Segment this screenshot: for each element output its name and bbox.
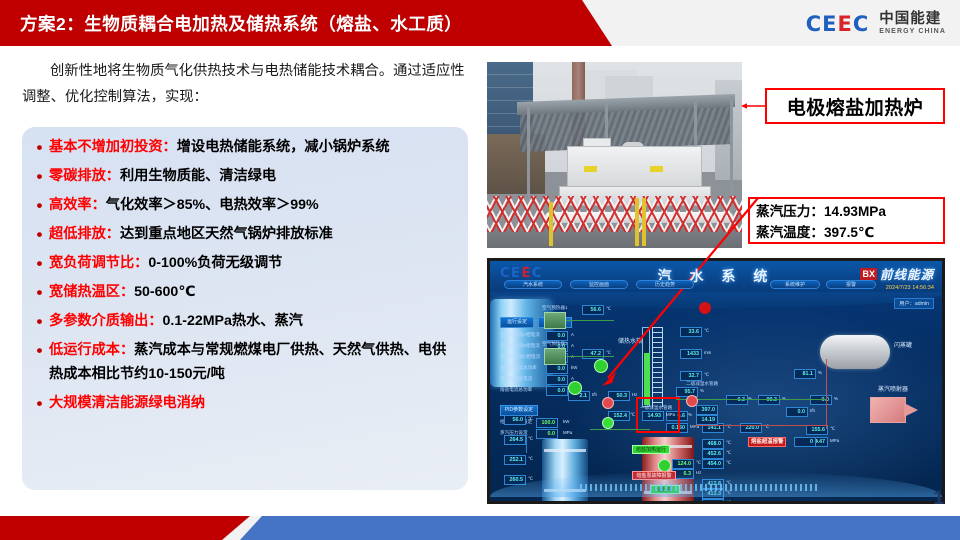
hmi-reading-35-unit: ℃ [726,500,731,504]
hmi-left-label-1: 生物炉电流A相电流 [500,332,540,338]
photo-post-2 [605,102,608,142]
hmi-pid-unit-1: kW [563,419,569,425]
hmi-device-label-1: 空气预热器1 [542,305,568,311]
hmi-reading-24: 56.0 [504,415,526,425]
hmi-pid-value-2: 0.0 [536,429,558,439]
hmi-reading-26-unit: ℃ [528,456,533,462]
hmi-reading-18-unit: ℃ [830,426,835,432]
benefit-keyword: 零碳排放： [49,168,120,184]
hmi-left-label-6: 熔盐电流总功率 [500,387,532,393]
hmi-left-value-4: 0.0 [546,364,568,374]
photo-label-tag-2 [650,166,663,172]
brand-logo: C E E C 中国能建 ENERGY CHINA [806,8,946,40]
callout-furnace: 电极熔盐加热炉 [765,88,945,124]
benefit-item: •超低排放：达到重点地区天然气锅炉排放标准 [30,223,460,247]
hmi-device-label-9: 蒸汽喷射器 [878,387,908,393]
hmi-reading-22: 397.0 [696,405,718,415]
hmi-steam-injector-nozzle [904,403,918,417]
hmi-mimic-diagram: 运行设定 MPT信号 生物炉电流A相电流 0.0 A 生物炉电流B相电流 0.0… [490,299,942,501]
hmi-device-label-4: 闪蒸罐 [894,343,912,349]
benefit-text: 大规模清洁能源绿电消纳 [49,392,460,416]
hmi-left-unit-4: kW [571,365,577,371]
hmi-screenshot: C E E C 汽 水 系 统 汽水系统 监控画面 历史趋势 系统维护 报警 B… [487,258,945,504]
hmi-pipe-7 [526,431,527,453]
hmi-reading-35: 412.3 [702,499,724,504]
benefit-item: •零碳排放：利用生物质能、清洁绿电 [30,165,460,189]
benefit-item: •宽负荷调节比：0-100%负荷无级调节 [30,252,460,276]
hmi-left-label-2: 生物炉电流B相电流 [500,343,540,349]
hmi-pipe-4 [590,429,650,430]
site-photo [487,62,742,248]
benefit-item: •大规模清洁能源绿电消纳 [30,392,460,416]
hmi-reading-23: 14.19 [696,415,718,425]
brand-name-en: ENERGY CHINA [879,27,946,37]
hmi-left-label-4: 生物炉电流总功率 [500,365,537,371]
hmi-reading-31: 124.0 [672,459,694,469]
steam-temperature-label: 蒸汽温度： [756,225,824,240]
hmi-vendor-brand: BX 前线能源 2024/7/23 14:56:34 用户：admin [860,264,934,310]
hmi-reading-2: 47.2 [582,349,604,359]
hmi-pipe-5 [826,359,827,429]
hmi-reading-4-unit: mm [704,350,711,356]
ceec-letter-1: C [806,14,820,34]
hmi-pipe-3 [676,399,826,400]
hmi-reading-29: 452.6 [702,449,724,459]
steam-temperature-row: 蒸汽温度：397.5℃ [756,223,943,244]
hmi-air-preheater-1 [544,312,566,329]
steam-pressure-label: 蒸汽压力： [756,204,824,219]
hmi-reading-20-unit: ℃ [630,412,635,418]
hmi-reading-25: 264.5 [504,435,526,445]
benefit-detail: 达到重点地区天然气锅炉排放标准 [120,226,333,242]
hmi-valve-green-1 [568,381,582,395]
benefit-keyword: 多参数介质输出： [49,313,163,329]
hmi-tank-scale [652,327,663,407]
hmi-reading-11-unit: % [688,412,692,418]
benefit-item: •基本不增加初投资：增设电热储能系统，减小锅炉系统 [30,136,460,160]
benefit-bullet-marker: • [30,194,49,218]
benefit-keyword: 高效率： [49,197,106,213]
hmi-reading-30-unit: ℃ [726,460,731,466]
hmi-valve-green-2 [594,359,608,373]
hmi-pressure-highlight-box [636,397,680,433]
hmi-reading-4: 1433 [680,349,702,359]
hmi-alarm-banner: 熔盐超温报警 [748,437,786,447]
hmi-reading-5: 32.7 [680,371,702,381]
hmi-reading-31-unit: ℃ [696,460,701,466]
photo-yellow-post-2 [635,198,639,246]
benefit-keyword: 宽储热温区： [49,284,134,300]
hmi-reading-26: 252.1 [504,455,526,465]
hmi-pid-unit-2: MPa [563,430,572,436]
hmi-status-ok: 熔盐加热运行 [632,445,670,454]
left-content-column: 创新性地将生物质气化供热技术与电热储能技术耦合。通过适应性调整、优化控制算法，实… [0,46,482,516]
hmi-brand-name: 前线能源 [880,264,934,283]
hmi-timestamp: 2024/7/23 14:56:34 [860,284,934,292]
steam-pressure-row: 蒸汽压力：14.93MPa [756,202,943,223]
benefits-panel: •基本不增加初投资：增设电热储能系统，减小锅炉系统•零碳排放：利用生物质能、清洁… [22,127,468,490]
hmi-reading-8-unit: % [700,388,704,394]
hmi-device-label-2: 空气预热器2 [542,341,568,347]
hmi-left-value-1: 0.0 [546,331,568,341]
hmi-flash-tank [820,335,890,369]
hmi-reading-3: 33.6 [680,327,702,337]
steam-temperature-value: 397.5℃ [824,225,874,240]
hmi-reading-18: 155.6 [806,425,828,435]
benefit-item: •多参数介质输出：0.1-22MPa热水、蒸汽 [30,310,460,334]
callout-steam-params: 蒸汽压力：14.93MPa 蒸汽温度：397.5℃ [748,197,945,244]
benefit-bullet-marker: • [30,252,49,276]
steam-pressure-value: 14.93MPa [824,204,886,219]
benefit-item: •高效率：气化效率＞85%、电热效率＞99% [30,194,460,218]
photo-yellow-post-1 [549,202,553,246]
hmi-reading-24-unit: ℃ [528,416,533,422]
photo-label-tag-1 [584,166,597,172]
benefit-keyword: 基本不增加初投资： [49,139,177,155]
hmi-reading-36: 0 [794,437,816,447]
hmi-reading-6-unit: t/h [592,392,597,398]
photo-safety-fence [487,196,742,232]
hmi-reading-25-unit: ℃ [528,436,533,442]
footer-band-red [0,516,250,540]
hmi-user-name: admin [915,301,929,307]
ceec-letter-4: C [853,14,867,34]
hmi-nav-pill-3[interactable]: 历史趋势 [636,280,694,289]
benefit-keyword: 宽负荷调节比： [49,255,148,271]
ceec-mark-icon: C E E C [806,14,868,34]
benefit-keyword: 低运行成本： [49,342,134,358]
hmi-reading-28: 468.0 [702,439,724,449]
benefit-text: 高效率：气化效率＞85%、电热效率＞99% [49,194,460,218]
brand-name-cn: 中国能建 [879,12,946,27]
callout-furnace-label: 电极熔盐加热炉 [787,93,924,120]
benefit-bullet-marker: • [30,165,49,189]
hmi-steam-injector [870,397,906,423]
hmi-pipe-2 [566,356,614,357]
hmi-user-label: 用户： [899,301,915,307]
hmi-valve-green-3 [602,417,614,429]
hmi-reading-15-unit: % [818,370,822,376]
hmi-reading-17-unit: t/h [810,408,815,414]
hmi-reading-29-unit: ℃ [726,450,731,456]
hmi-pipe-6 [694,425,828,426]
benefit-bullet-marker: • [30,339,49,363]
benefit-detail: 增设电热储能系统，减小锅炉系统 [177,139,390,155]
benefit-text: 宽储热温区：50-600℃ [49,281,460,305]
hmi-nav-pill-4[interactable]: 系统维护 [770,280,820,289]
benefit-keyword: 超低排放： [49,226,120,242]
hmi-pid-value-1: 100.0 [536,418,558,428]
page-number: 1 [933,488,944,510]
page-title: 方案2：生物质耦合电加热及储热系统（熔盐、水工质） [0,11,462,36]
benefit-bullet-marker: • [30,392,49,416]
benefit-item: •低运行成本：蒸汽成本与常规燃煤电厂供热、天然气供热、电供热成本相比节约10-1… [30,339,460,386]
hmi-reading-30: 454.0 [702,459,724,469]
ceec-letter-2: E [822,14,835,34]
hmi-valve-red-2 [686,395,698,407]
benefit-text: 低运行成本：蒸汽成本与常规燃煤电厂供热、天然气供热、电供热成本相比节约10-15… [49,339,460,386]
hmi-left-value-6: 0.0 [546,386,568,396]
benefit-detail: 0-100%负荷无级调节 [148,255,282,271]
hmi-left-unit-2: A [571,343,574,349]
footer-band-blue [240,516,960,540]
benefit-text: 宽负荷调节比：0-100%负荷无级调节 [49,252,460,276]
benefit-keyword: 大规模清洁能源绿电消纳 [49,395,205,411]
benefit-detail: 50-600℃ [134,284,195,300]
benefit-bullet-marker: • [30,310,49,334]
hmi-left-label-5: 熔盐电流总电流 [500,376,532,382]
hmi-left-label-3: 生物炉电流C相电流 [500,354,540,360]
benefit-bullet-marker: • [30,281,49,305]
benefit-bullet-marker: • [30,136,49,160]
hmi-nav-pill-1[interactable]: 汽水系统 [504,280,562,289]
hmi-reading-1-unit: ℃ [606,306,611,312]
intro-paragraph: 创新性地将生物质气化供热技术与电热储能技术耦合。通过适应性调整、优化控制算法，实… [22,58,468,110]
benefit-bullet-marker: • [30,223,49,247]
hmi-nav-pill-2[interactable]: 监控画面 [570,280,628,289]
photo-yellow-post-3 [642,198,646,246]
hmi-left-value-5: 0.0 [546,375,568,385]
hmi-btn-run-setting[interactable]: 运行设定 [500,317,534,328]
hmi-pipe-1 [566,320,614,321]
furnace-callout-arrow-icon [741,103,767,109]
hmi-left-unit-1: A [571,332,574,338]
hmi-device-label-3: 储热水箱 [618,339,642,345]
slide-title-bar: 方案2：生物质耦合电加热及储热系统（熔盐、水工质） [0,0,612,46]
benefit-detail: 利用生物质能、清洁绿电 [120,168,276,184]
hmi-reading-5-unit: ℃ [704,372,709,378]
hmi-reading-28-unit: ℃ [726,440,731,446]
hmi-reading-36-unit: s [816,438,818,444]
benefit-text: 超低排放：达到重点地区天然气锅炉排放标准 [49,223,460,247]
benefit-text: 基本不增加初投资：增设电热储能系统，减小锅炉系统 [49,136,460,160]
hmi-reading-16-unit: % [834,396,838,402]
benefit-text: 零碳排放：利用生物质能、清洁绿电 [49,165,460,189]
footer-band [0,516,960,540]
hmi-reading-3-unit: ℃ [704,328,709,334]
benefit-text: 多参数介质输出：0.1-22MPa热水、蒸汽 [49,310,460,334]
hmi-brand-badge: BX [860,268,877,280]
hmi-device-label-8: 二级减温水管路 [686,381,718,387]
hmi-reading-17: 0.0 [786,407,808,417]
hmi-reading-19-unit: MPa [830,438,839,444]
benefit-detail: 0.1-22MPa热水、蒸汽 [163,313,303,329]
hmi-air-preheater-2 [544,348,566,365]
hmi-reading-15: 81.1 [794,369,816,379]
benefit-detail: 气化效率＞85%、电热效率＞99% [106,197,319,213]
hmi-tank-level-gauge [642,327,650,407]
hmi-valve-red-1 [602,397,614,409]
benefit-item: •宽储热温区：50-600℃ [30,281,460,305]
hmi-reading-1: 56.6 [582,305,604,315]
ceec-letter-3: E [837,14,850,34]
hmi-user-badge: 用户：admin [894,298,934,309]
brand-name-block: 中国能建 ENERGY CHINA [875,12,946,37]
